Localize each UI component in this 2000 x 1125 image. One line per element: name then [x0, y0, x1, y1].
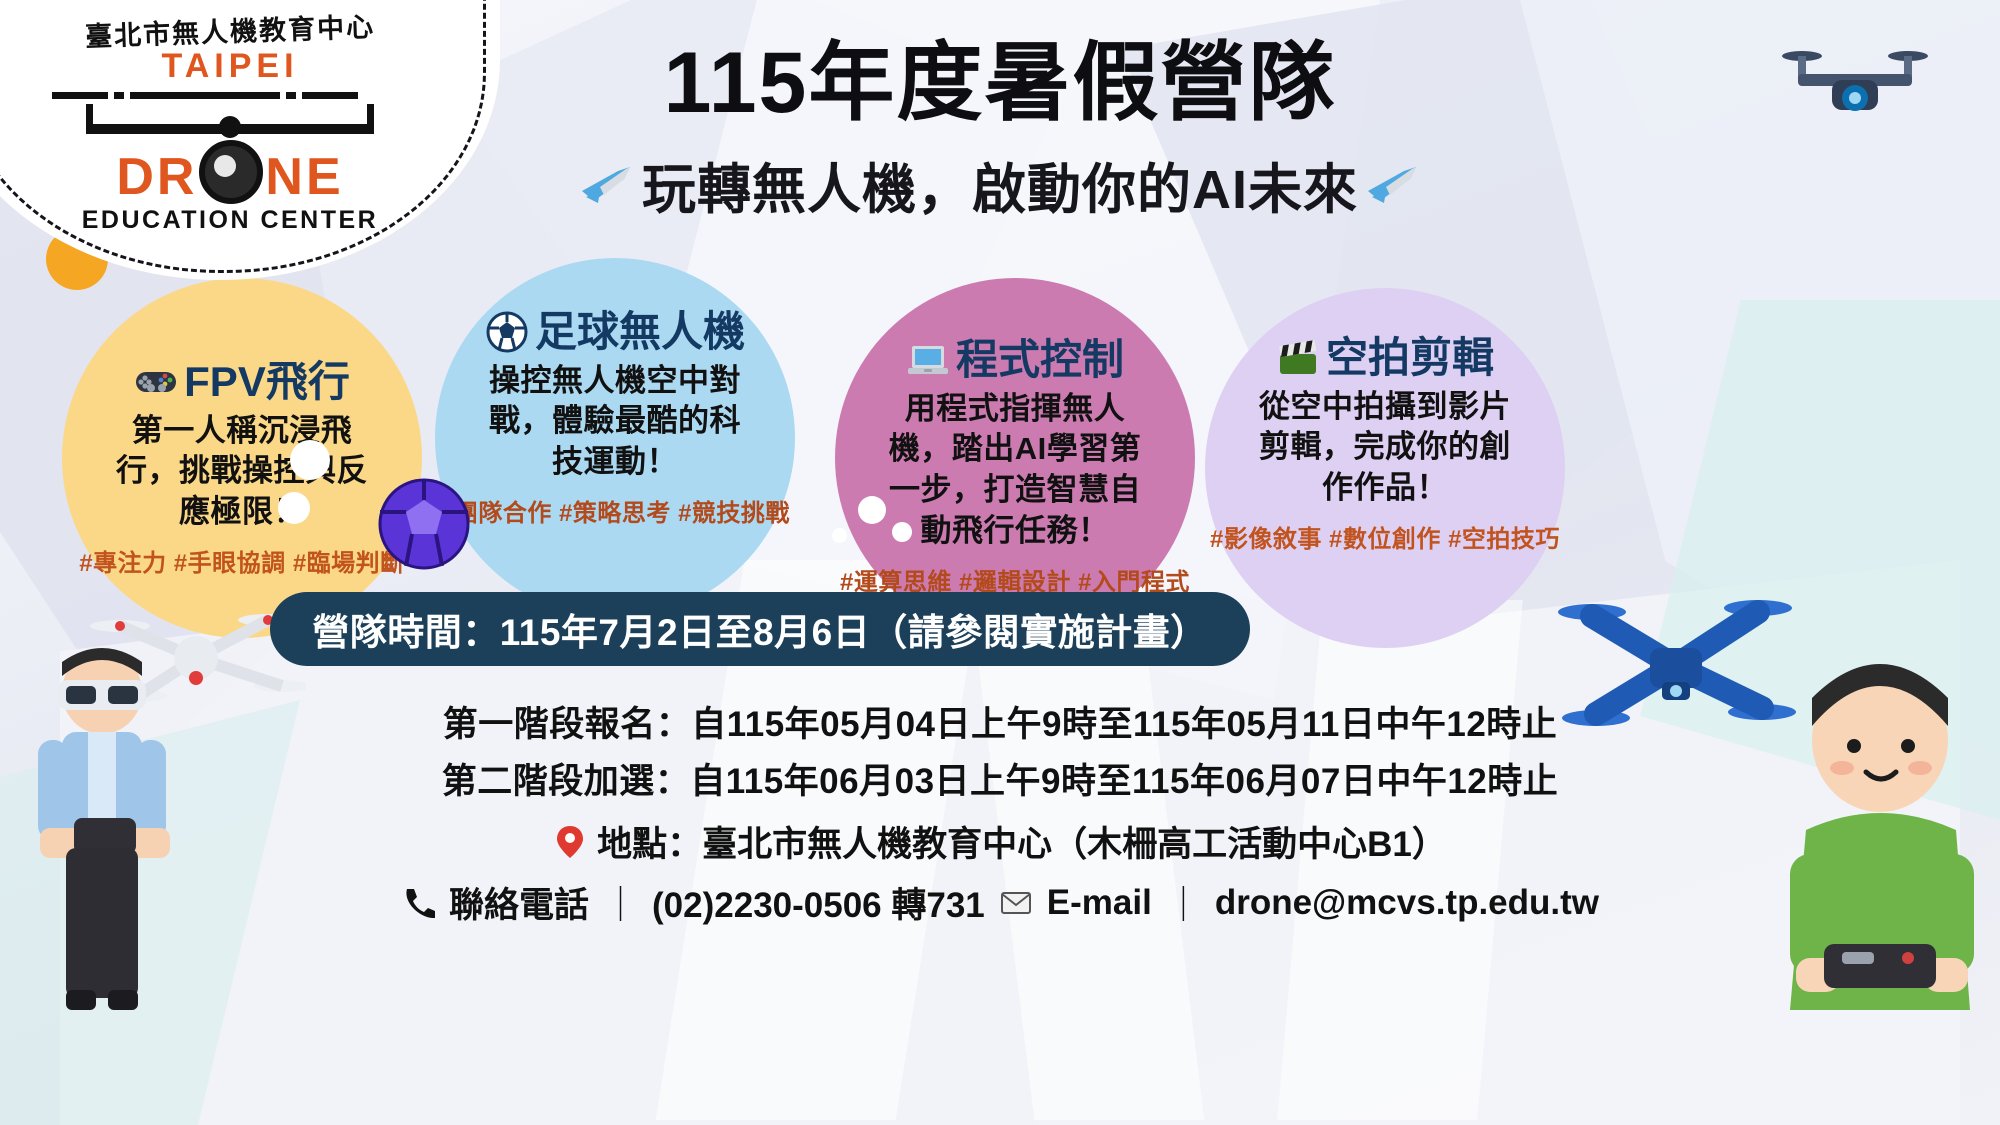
soccer-ball-graphic	[378, 478, 470, 570]
airplane-icon	[578, 161, 636, 209]
laptop-icon	[906, 338, 950, 382]
mail-value[interactable]: drone@mcvs.tp.edu.tw	[1215, 883, 1599, 923]
logo-drone-right: NE	[265, 148, 343, 206]
course-description: 從空中拍攝到影片剪輯，完成你的創作作品！	[1249, 387, 1521, 510]
course-title: 程式控制	[956, 338, 1124, 383]
logo-education-center-text: EDUCATION CENTER	[30, 206, 430, 235]
airplane-icon	[1364, 161, 1422, 209]
decorative-bokeh	[892, 522, 912, 542]
page-subtitle: 玩轉無人機，啟動你的AI未來	[440, 145, 1560, 224]
course-description: 第一人稱沉浸飛行，挑戰操控與反應極限！	[106, 411, 378, 534]
course-description: 用程式指揮無人機，踏出AI學習第一步，打造智慧自動飛行任務！	[879, 389, 1151, 553]
decorative-bokeh	[858, 496, 886, 524]
vr-boy-illustration	[22, 640, 182, 1080]
course-card-fpv[interactable]: FPV飛行 第一人稱沉浸飛行，挑戰操控與反應極限！ #專注力 #手眼協調 #臨場…	[62, 278, 422, 638]
location-text: 地點：臺北市無人機教育中心（木柵高工活動中心B1）	[597, 816, 1447, 867]
subtitle-text: 玩轉無人機，啟動你的AI未來	[642, 145, 1358, 224]
course-card-soccer[interactable]: 足球無人機 操控無人機空中對戰，體驗最酷的科技運動！ #團隊合作 #策略思考 #…	[435, 258, 795, 618]
phone-value[interactable]: (02)2230-0506 轉731	[652, 877, 985, 928]
course-title: FPV飛行	[184, 360, 350, 405]
logo-drone-arms	[52, 88, 408, 104]
envelope-icon	[999, 885, 1033, 921]
course-title-row: 程式控制	[906, 338, 1124, 383]
mail-label: E-mail	[1047, 883, 1152, 923]
decorative-bokeh	[832, 528, 847, 543]
course-card-aerial-editing[interactable]: 空拍剪輯 從空中拍攝到影片剪輯，完成你的創作作品！ #影像敘事 #數位創作 #空…	[1205, 288, 1565, 648]
game-controller-icon	[134, 360, 178, 404]
course-title-row: 足球無人機	[485, 310, 745, 355]
separator-1: ｜	[603, 877, 638, 928]
logo-drone-word: DRNE	[30, 140, 430, 204]
logo-drone-left: DR	[116, 148, 197, 206]
course-tags: #團隊合作 #策略思考 #競技挑戰	[440, 493, 790, 528]
course-title: 空拍剪輯	[1326, 336, 1494, 381]
course-title-row: FPV飛行	[134, 360, 350, 405]
center-logo: 臺北市無人機教育中心 TAIPEI DRNE EDUCATION CENTER	[30, 10, 430, 230]
separator-2: ｜	[1166, 877, 1201, 928]
course-tags: #影像敘事 #數位創作 #空拍技巧	[1210, 519, 1560, 554]
location-row: 地點：臺北市無人機教育中心（木柵高工活動中心B1）	[0, 816, 2000, 867]
phone-icon	[401, 885, 435, 921]
phone-label: 聯絡電話	[449, 877, 589, 928]
map-pin-icon	[553, 824, 587, 860]
contact-row: 聯絡電話 ｜ (02)2230-0506 轉731 E-mail ｜ drone…	[0, 877, 2000, 928]
decorative-bokeh	[290, 440, 330, 480]
decorative-bokeh	[278, 492, 310, 524]
camp-period-banner: 營隊時間：115年7月2日至8月6日（請參閱實施計畫）	[270, 592, 1250, 666]
page-title: 115年度暑假營隊	[560, 38, 1440, 128]
course-description: 操控無人機空中對戰，體驗最酷的科技運動！	[479, 361, 751, 484]
course-title: 足球無人機	[535, 310, 745, 355]
drone-icon	[1780, 40, 1930, 132]
info-block: 第一階段報名：自115年05月04日上午9時至115年05月11日中午12時止 …	[0, 690, 2000, 928]
course-tags: #專注力 #手眼協調 #臨場判斷	[79, 543, 404, 578]
student-illustration	[1750, 640, 1990, 1090]
camera-lens-icon	[199, 140, 263, 204]
course-card-programming[interactable]: 程式控制 用程式指揮無人機，踏出AI學習第一步，打造智慧自動飛行任務！ #運算思…	[835, 278, 1195, 638]
registration-phase2: 第二階段加選：自115年06月03日上午9時至115年06月07日中午12時止	[0, 753, 2000, 804]
poster-canvas: D 臺北市無人機教育中心 TAIPEI DRNE EDUCATION CENTE…	[0, 0, 2000, 1125]
soccer-ball-icon	[485, 310, 529, 354]
course-title-row: 空拍剪輯	[1276, 336, 1494, 381]
registration-phase1: 第一階段報名：自115年05月04日上午9時至115年05月11日中午12時止	[0, 696, 2000, 747]
clapperboard-icon	[1276, 336, 1320, 380]
